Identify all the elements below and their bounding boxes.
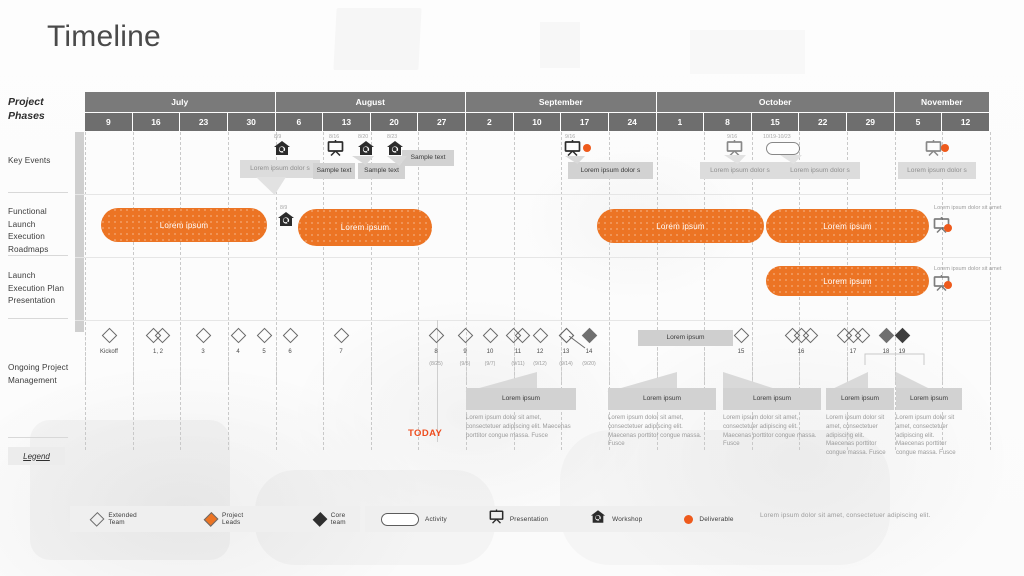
workshop-icon[interactable] bbox=[273, 140, 291, 161]
milestone-diamond[interactable] bbox=[101, 328, 117, 344]
label-line: Execution Plan bbox=[8, 283, 72, 296]
milestone-date: (9/5) bbox=[451, 361, 479, 367]
week-header-cell: 17 bbox=[561, 113, 609, 131]
page-title: Timeline bbox=[47, 20, 161, 54]
milestone-number: 14 bbox=[578, 349, 600, 355]
week-header-cell: 27 bbox=[418, 113, 466, 131]
event-callout: Lorem ipsum dolor s bbox=[568, 162, 653, 179]
milestone-diamond[interactable] bbox=[282, 328, 298, 344]
deliverable-dot-icon[interactable] bbox=[944, 281, 952, 289]
presentation-icon[interactable] bbox=[327, 140, 344, 161]
diamond-solid-icon bbox=[312, 512, 327, 527]
label-line: Execution bbox=[8, 231, 72, 244]
month-header-row: JulyAugustSeptemberOctoberNovember bbox=[85, 92, 990, 112]
milestone-diamond[interactable] bbox=[894, 328, 910, 344]
grid-line bbox=[942, 322, 943, 382]
legend-item-workshop[interactable]: Workshop bbox=[590, 509, 642, 529]
event-date: 10/19-10/23 bbox=[763, 134, 791, 140]
milestone-diamond[interactable] bbox=[256, 328, 272, 344]
week-header-cell: 1 bbox=[657, 113, 705, 131]
row-label-key-events: Key Events bbox=[8, 155, 72, 168]
milestone-diamond[interactable] bbox=[155, 328, 171, 344]
milestone-diamond[interactable] bbox=[230, 328, 246, 344]
milestone-diamond[interactable] bbox=[428, 328, 444, 344]
event-callout: Lorem ipsum dolor s bbox=[898, 162, 976, 179]
label-line: Launch bbox=[8, 270, 72, 283]
milestone-callout-title: Lorem ipsum bbox=[826, 388, 894, 410]
workshop-icon bbox=[590, 509, 606, 529]
week-header-cell: 29 bbox=[847, 113, 895, 131]
milestone-number: Kickoff bbox=[98, 349, 120, 355]
legend-item-core-team[interactable]: Core team bbox=[315, 512, 360, 526]
milestone-callout-title: Lorem ipsum bbox=[723, 388, 821, 410]
label-line: Presentation bbox=[8, 295, 72, 308]
milestone-number: 1, 2 bbox=[147, 349, 169, 355]
legend-bar-icons: Activity Presentation Workshop Deliverab… bbox=[365, 506, 750, 532]
month-header-cell: July bbox=[85, 92, 276, 112]
launch-end-note: Lorem ipsum dolor sit amet bbox=[934, 266, 1001, 272]
legend-item-extended-team[interactable]: Extended Team bbox=[92, 512, 152, 526]
presentation-icon[interactable] bbox=[925, 140, 942, 161]
milestone-date: (9/12) bbox=[526, 361, 554, 367]
milestone-diamond[interactable] bbox=[457, 328, 473, 344]
milestone-number: 11 bbox=[507, 349, 529, 355]
grid-line bbox=[323, 322, 324, 382]
row-divider bbox=[8, 192, 68, 193]
grid-line bbox=[228, 132, 229, 450]
milestone-number: 7 bbox=[330, 349, 352, 355]
grid-line bbox=[133, 322, 134, 382]
deliverable-dot-icon[interactable] bbox=[944, 224, 952, 232]
label-line: Project bbox=[8, 95, 68, 109]
week-header-row: 91623306132027210172418152229512 bbox=[85, 113, 990, 131]
legend-bar-shapes: Extended Team Project Leads Core team bbox=[70, 506, 360, 532]
row-label-launch-exec-plan: LaunchExecution PlanPresentation bbox=[8, 270, 72, 308]
milestone-callout-title: Lorem ipsum bbox=[466, 388, 576, 410]
left-spine bbox=[75, 132, 84, 332]
milestone-date: (8/25) bbox=[422, 361, 450, 367]
event-callout: Lorem ipsum dolor s bbox=[240, 160, 320, 178]
milestone-callout-body: Lorem ipsum dolor sit amet, consectetuer… bbox=[896, 414, 962, 458]
milestone-diamond[interactable] bbox=[515, 328, 531, 344]
grid-line bbox=[133, 132, 134, 450]
milestone-number: 6 bbox=[279, 349, 301, 355]
presentation-icon bbox=[489, 509, 504, 529]
grid-line bbox=[323, 132, 324, 450]
event-callout: Lorem ipsum dolor s bbox=[780, 162, 860, 179]
event-callout: Sample text bbox=[313, 163, 355, 179]
milestone-callout-body: Lorem ipsum dolor sit amet, consectetuer… bbox=[723, 414, 821, 449]
functional-bar[interactable]: Lorem ipsum bbox=[597, 209, 764, 243]
deliverable-dot-icon[interactable] bbox=[583, 144, 591, 152]
week-header-cell: 22 bbox=[799, 113, 847, 131]
label-line: Phases bbox=[8, 109, 68, 123]
row-divider bbox=[8, 318, 68, 319]
milestone-number: 10 bbox=[479, 349, 501, 355]
project-phases-header: ProjectPhases bbox=[8, 95, 68, 123]
grid-line bbox=[371, 322, 372, 382]
event-callout: Sample text bbox=[358, 163, 405, 179]
week-header-cell: 13 bbox=[323, 113, 371, 131]
milestone-callout-body: Lorem ipsum dolor sit amet, consectetuer… bbox=[466, 414, 576, 440]
functional-end-note: Lorem ipsum dolor sit amet bbox=[934, 205, 1001, 211]
grid-line bbox=[418, 322, 419, 382]
week-header-cell: 16 bbox=[133, 113, 181, 131]
milestone-top-callout: Lorem ipsum bbox=[638, 330, 733, 346]
milestone-number: 17 bbox=[842, 349, 864, 355]
milestone-number: 5 bbox=[253, 349, 275, 355]
band-divider bbox=[75, 257, 990, 258]
week-header-cell: 24 bbox=[609, 113, 657, 131]
legend-label: Activity bbox=[425, 516, 447, 523]
legend-label: Presentation bbox=[510, 516, 548, 523]
legend-label: Deliverable bbox=[699, 516, 733, 523]
milestone-callout-body: Lorem ipsum dolor sit amet, consectetuer… bbox=[826, 414, 894, 458]
week-header-cell: 6 bbox=[276, 113, 324, 131]
milestone-diamond[interactable] bbox=[733, 328, 749, 344]
activity-pill-icon bbox=[381, 513, 419, 526]
row-divider bbox=[8, 255, 68, 256]
legend-label: Project Leads bbox=[222, 512, 261, 526]
legend-label: Core team bbox=[331, 512, 360, 526]
grid-line bbox=[990, 322, 991, 382]
month-header-cell: August bbox=[276, 92, 467, 112]
label-line: Functional Launch bbox=[8, 206, 72, 231]
event-date: 8/9 bbox=[280, 205, 287, 211]
grid-line bbox=[180, 322, 181, 382]
label-line: Key Events bbox=[8, 155, 72, 168]
label-line: Management bbox=[8, 375, 72, 388]
milestone-callout-title: Lorem ipsum bbox=[896, 388, 962, 410]
deliverable-dot-icon bbox=[684, 515, 693, 524]
milestone-date: (9/7) bbox=[476, 361, 504, 367]
milestone-number: 9 bbox=[454, 349, 476, 355]
workshop-icon[interactable] bbox=[277, 211, 295, 232]
legend-item-activity[interactable]: Activity bbox=[381, 513, 447, 526]
milestone-diamond[interactable] bbox=[333, 328, 349, 344]
week-header-cell: 5 bbox=[895, 113, 943, 131]
timeline-chart: ProjectPhases Key Events Functional Laun… bbox=[0, 0, 1024, 576]
milestone-number: 13 bbox=[555, 349, 577, 355]
band-divider bbox=[75, 194, 990, 195]
deliverable-dot-icon[interactable] bbox=[941, 144, 949, 152]
diamond-outline-icon bbox=[90, 511, 105, 526]
week-header-cell: 2 bbox=[466, 113, 514, 131]
activity-pill-icon[interactable] bbox=[766, 142, 800, 155]
month-header-cell: September bbox=[466, 92, 657, 112]
event-callout: Lorem ipsum dolor s bbox=[700, 162, 780, 179]
milestone-number: 3 bbox=[192, 349, 214, 355]
band-divider bbox=[75, 320, 990, 321]
functional-bar[interactable]: Lorem ipsum bbox=[298, 209, 432, 246]
month-header-cell: October bbox=[657, 92, 895, 112]
grid-line bbox=[85, 132, 86, 450]
row-label-ongoing-project: Ongoing ProjectManagement bbox=[8, 362, 72, 387]
milestone-date: (9/20) bbox=[575, 361, 603, 367]
week-header-cell: 12 bbox=[942, 113, 990, 131]
milestone-number: 15 bbox=[730, 349, 752, 355]
month-header-cell: November bbox=[895, 92, 990, 112]
event-callout: Sample text bbox=[402, 150, 454, 166]
row-divider bbox=[8, 437, 68, 438]
legend-item-deliverable[interactable]: Deliverable bbox=[684, 515, 733, 524]
grid-line bbox=[276, 322, 277, 382]
grid-line bbox=[371, 132, 372, 450]
grid-line bbox=[85, 322, 86, 382]
today-label: TODAY bbox=[408, 428, 442, 439]
week-header-cell: 23 bbox=[180, 113, 228, 131]
diamond-orange-icon bbox=[203, 511, 218, 526]
week-header-cell: 20 bbox=[371, 113, 419, 131]
milestone-number: 4 bbox=[227, 349, 249, 355]
milestone-callout-title: Lorem ipsum bbox=[608, 388, 716, 410]
week-header-cell: 30 bbox=[228, 113, 276, 131]
callout-tail bbox=[256, 177, 286, 195]
row-label-functional-launch: Functional LaunchExecutionRoadmaps bbox=[8, 206, 72, 257]
milestone-diamond[interactable] bbox=[195, 328, 211, 344]
milestone-number: 8 bbox=[425, 349, 447, 355]
label-line: Ongoing Project bbox=[8, 362, 72, 375]
week-header-cell: 15 bbox=[752, 113, 800, 131]
milestone-diamond[interactable] bbox=[532, 328, 548, 344]
week-header-cell: 10 bbox=[514, 113, 562, 131]
functional-bar[interactable]: Lorem ipsum bbox=[101, 208, 267, 242]
week-header-cell: 9 bbox=[85, 113, 133, 131]
legend-item-presentation[interactable]: Presentation bbox=[489, 509, 548, 529]
milestone-diamond[interactable] bbox=[878, 328, 894, 344]
milestone-number: 12 bbox=[529, 349, 551, 355]
week-header-cell: 8 bbox=[704, 113, 752, 131]
grid-line bbox=[609, 322, 610, 382]
grid-line bbox=[990, 132, 991, 450]
grid-line bbox=[180, 132, 181, 450]
milestone-bracket bbox=[864, 352, 926, 366]
legend-link[interactable]: Legend bbox=[8, 447, 65, 465]
legend-label: Workshop bbox=[612, 516, 642, 523]
legend-label: Extended Team bbox=[108, 512, 151, 526]
milestone-number: 16 bbox=[790, 349, 812, 355]
launch-bar[interactable]: Lorem ipsum bbox=[766, 266, 929, 296]
milestone-diamond[interactable] bbox=[482, 328, 498, 344]
functional-bar[interactable]: Lorem ipsum bbox=[766, 209, 929, 243]
legend-item-project-leads[interactable]: Project Leads bbox=[206, 512, 261, 526]
milestone-callout-body: Lorem ipsum dolor sit amet, consectetuer… bbox=[608, 414, 712, 449]
grid-line bbox=[418, 132, 419, 450]
